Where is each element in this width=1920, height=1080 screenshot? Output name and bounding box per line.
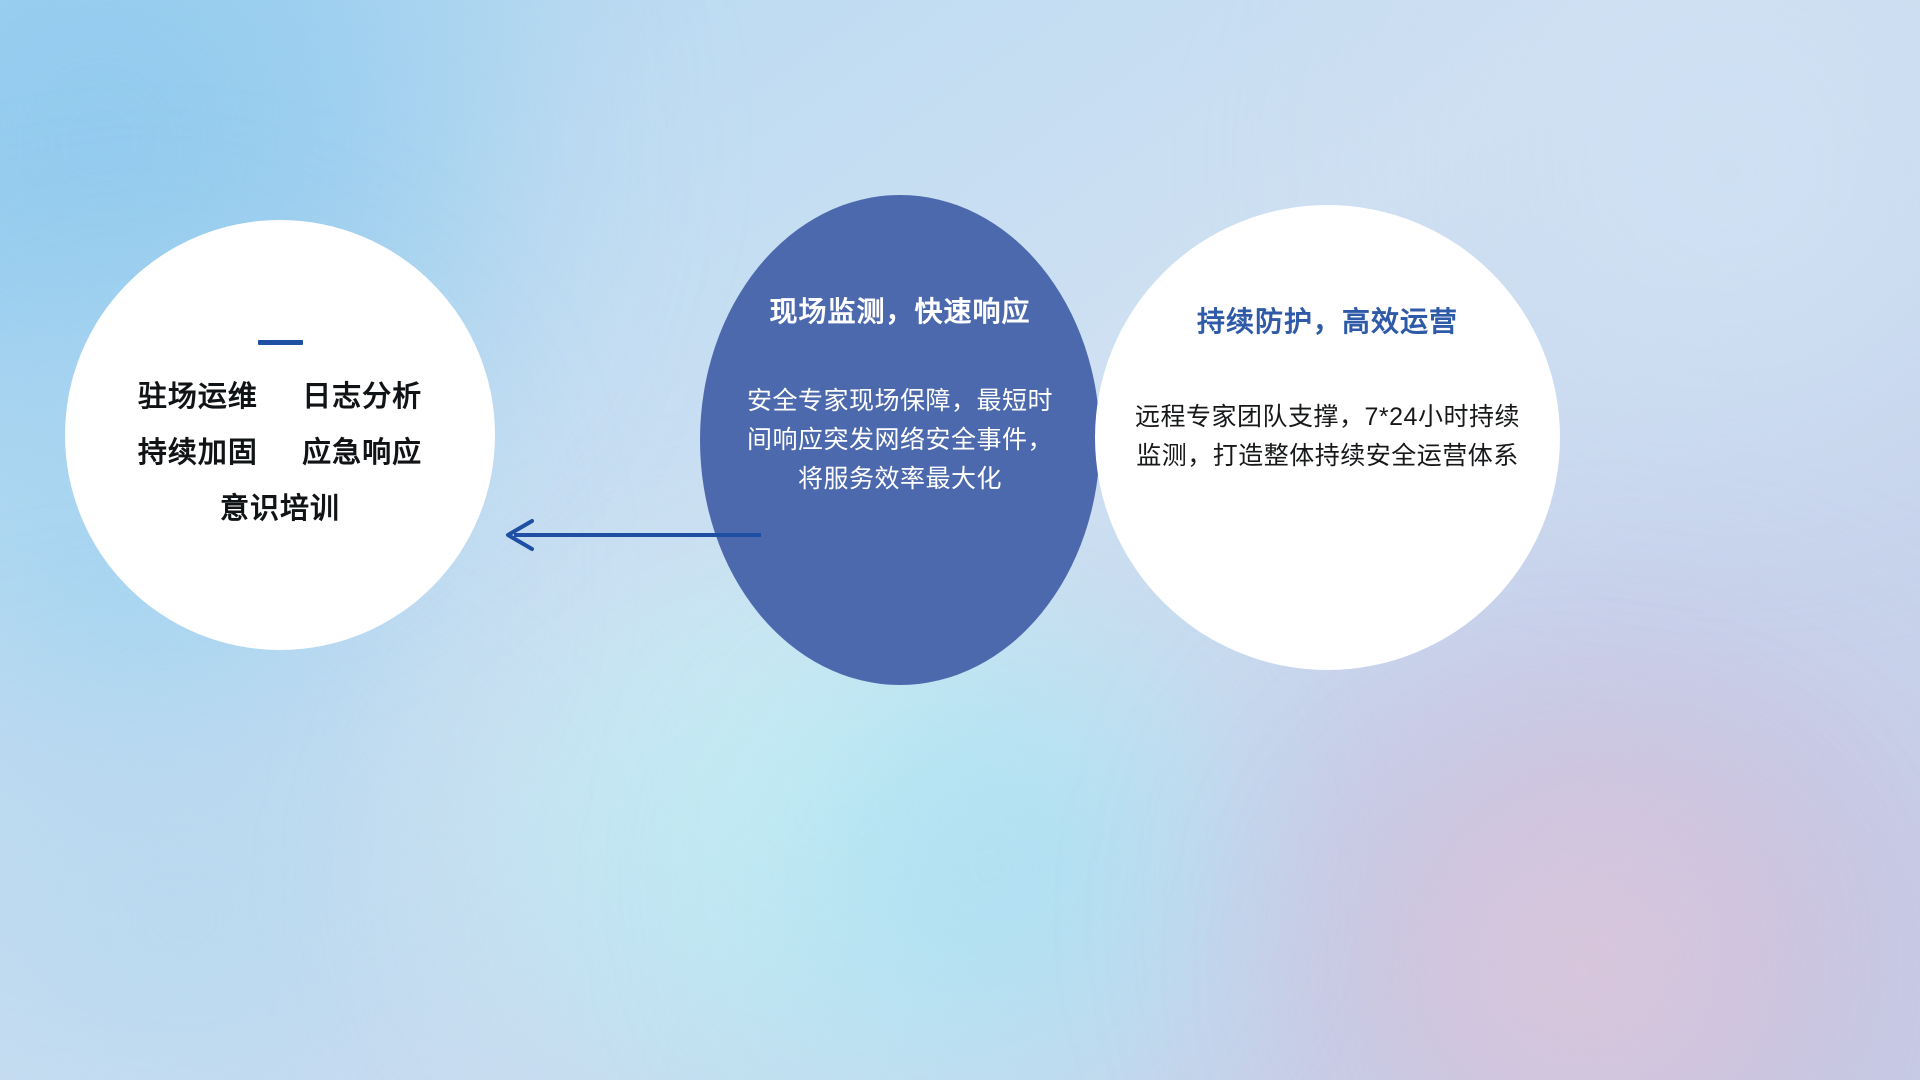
capability-list: 驻场运维 日志分析 持续加固 应急响应 意识培训 — [65, 383, 495, 551]
onsite-description: 安全专家现场保障，最短时间响应突发网络安全事件，将服务效率最大化 — [740, 382, 1060, 498]
service-circle-onsite[interactable]: 现场监测，快速响应 安全专家现场保障，最短时间响应突发网络安全事件，将服务效率最… — [700, 195, 1100, 685]
capability-item-3: 持续加固 — [138, 437, 258, 469]
capability-item-1: 驻场运维 — [138, 381, 258, 413]
capability-row-3: 意识培训 — [65, 495, 495, 524]
remote-description: 远程专家团队支撑，7*24小时持续监测，打造整体持续安全运营体系 — [1128, 398, 1528, 476]
capability-row-1: 驻场运维 日志分析 — [65, 383, 495, 412]
arrow-left-icon — [496, 505, 766, 565]
remote-title: 持续防护，高效运营 — [1197, 300, 1458, 340]
capability-item-2: 日志分析 — [302, 381, 422, 413]
capability-row-2: 持续加固 应急响应 — [65, 439, 495, 468]
onsite-title: 现场监测，快速响应 — [769, 290, 1030, 330]
capability-circle-left[interactable]: 驻场运维 日志分析 持续加固 应急响应 意识培训 — [65, 220, 495, 650]
slide-canvas: 驻场运维 日志分析 持续加固 应急响应 意识培训 现场监测，快速响应 安全专家现… — [0, 0, 1920, 1080]
dash-divider-icon — [258, 340, 303, 345]
service-circle-remote[interactable]: 持续防护，高效运营 远程专家团队支撑，7*24小时持续监测，打造整体持续安全运营… — [1095, 205, 1560, 670]
capability-item-5: 意识培训 — [220, 493, 340, 525]
capability-item-4: 应急响应 — [302, 437, 422, 469]
